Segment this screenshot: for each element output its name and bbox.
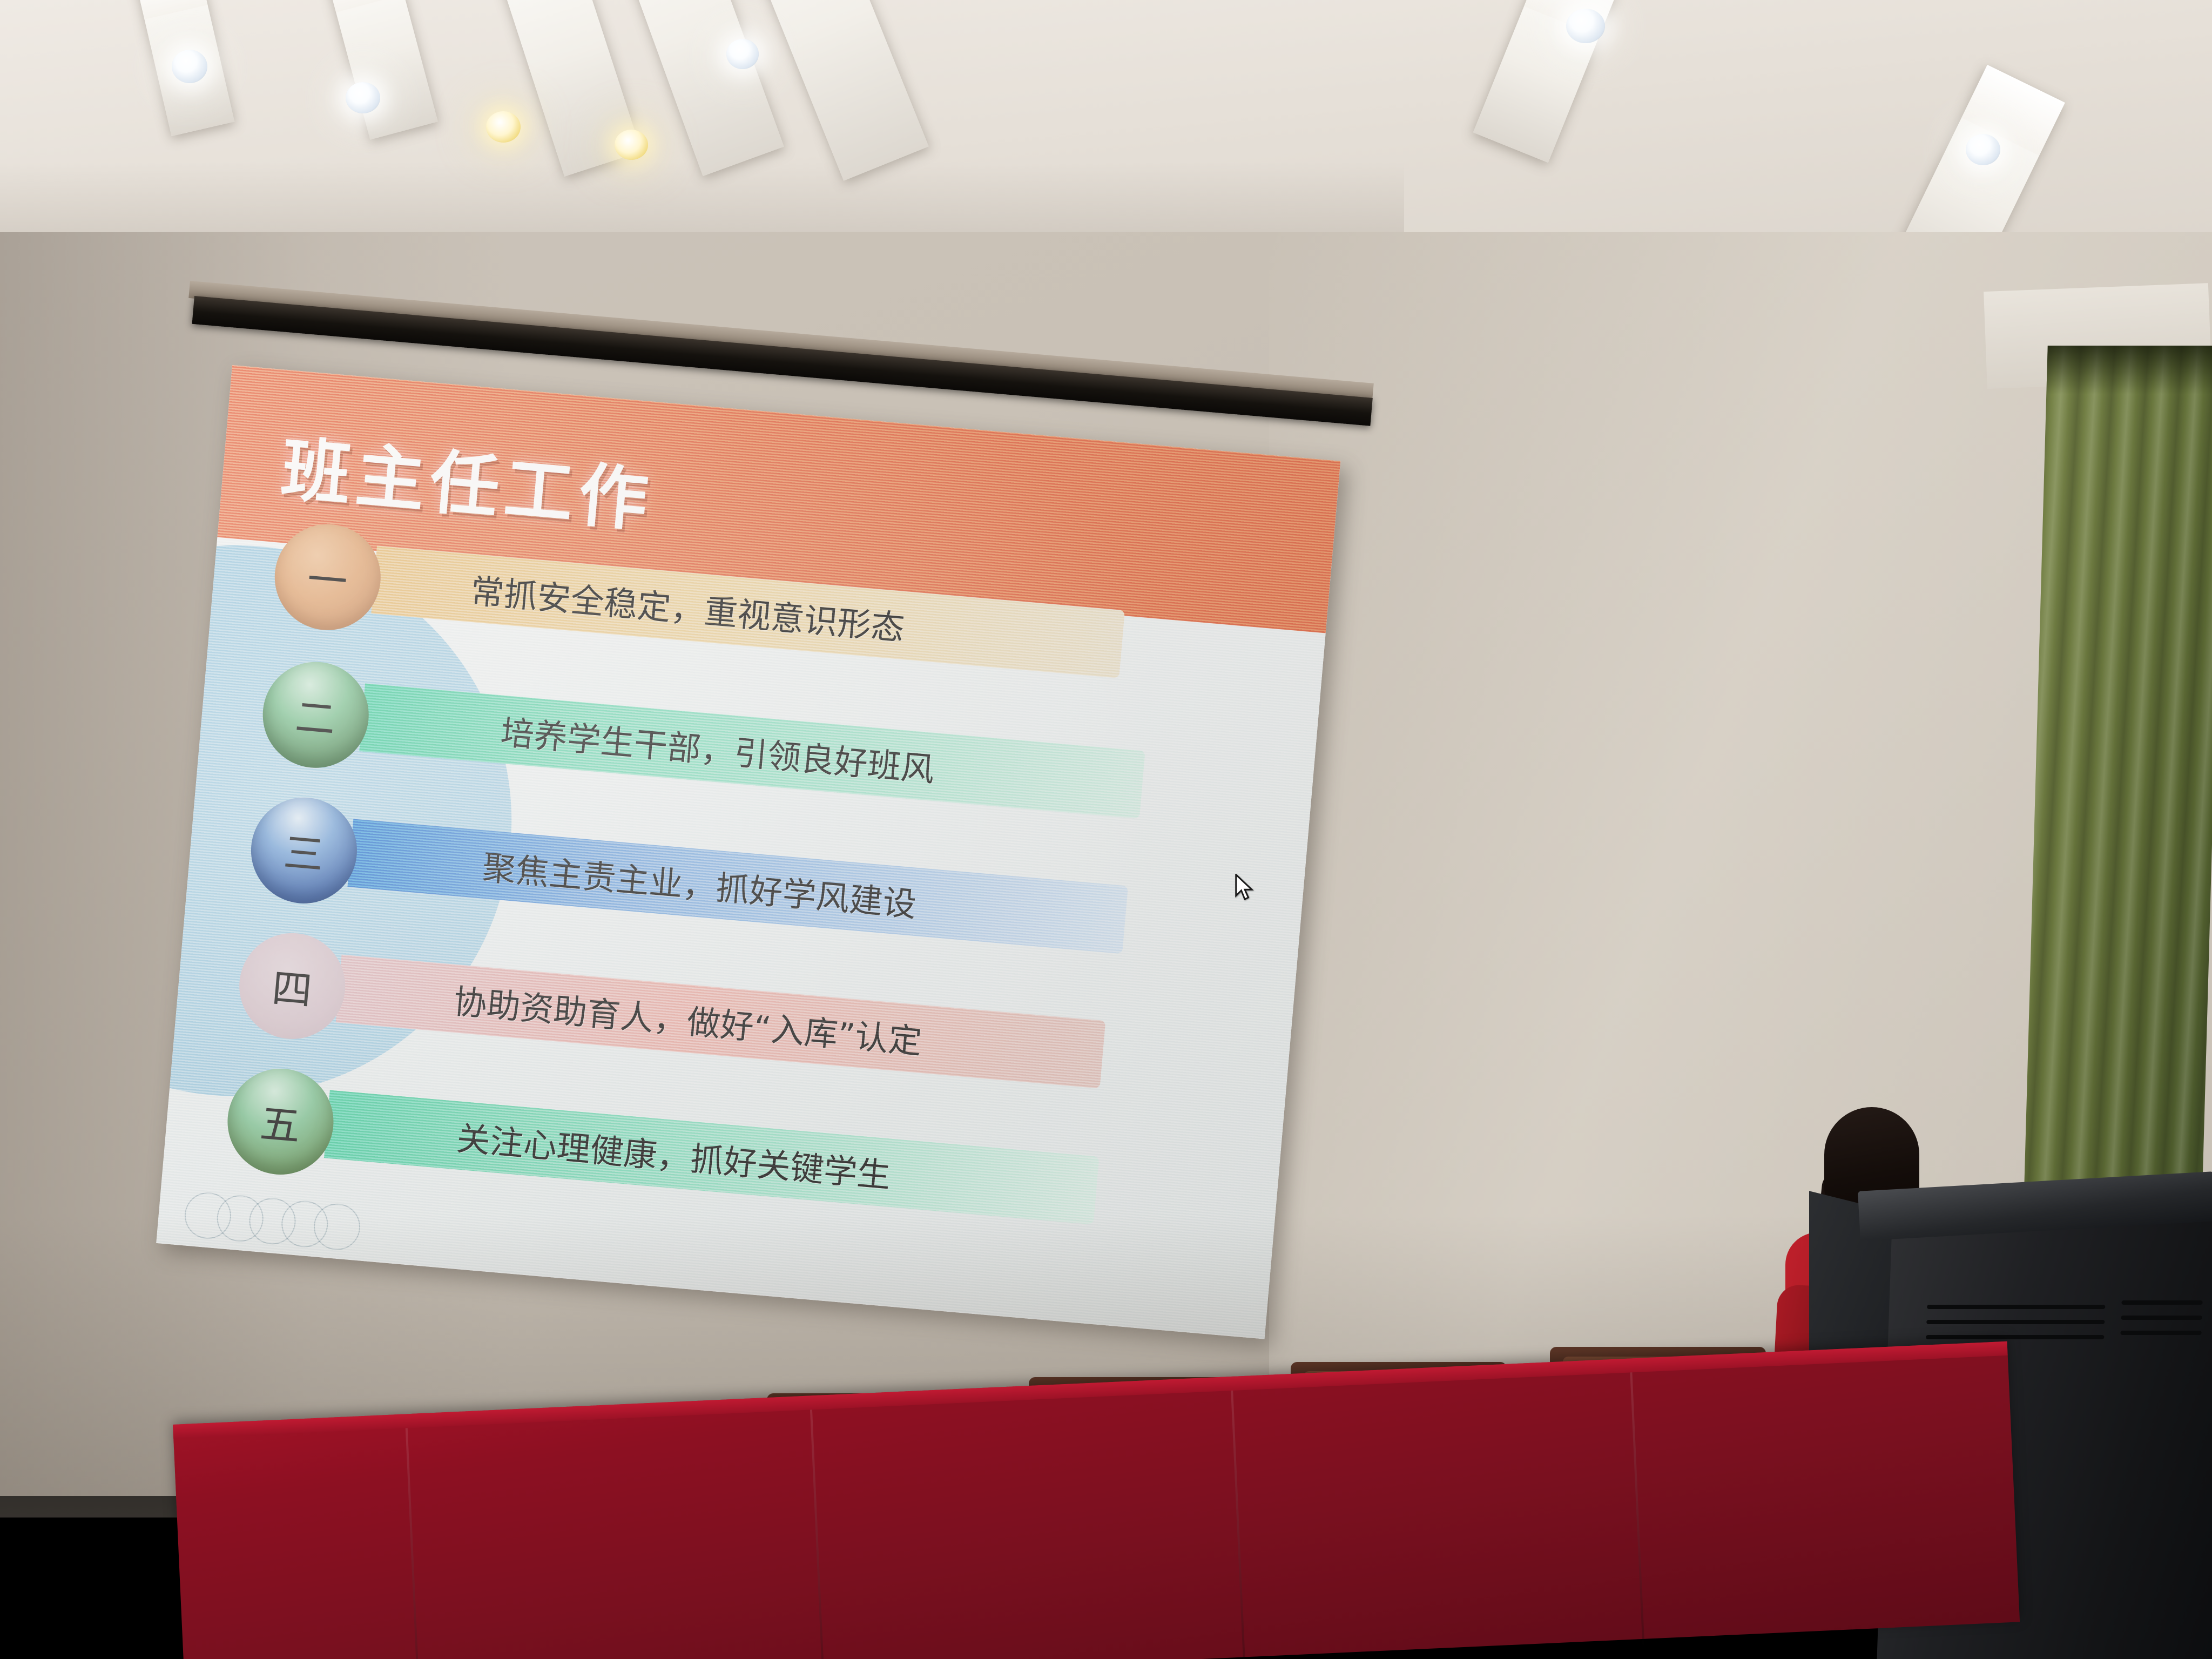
podium-vent-slot [1926, 1320, 2105, 1324]
slide-item-numeral-badge: 二 [259, 658, 373, 772]
slide-item-list: 常抓安全稳定，重视意识形态 一 培养学生干部，引领良好班风 二 聚焦主责主业，抓… [159, 527, 1326, 1300]
podium-vent-slot [2121, 1300, 2202, 1305]
slide-canvas: 班主任工作 常抓安全稳定，重视意识形态 一 培养学生干部，引领良好班风 二 [156, 365, 1340, 1339]
downlight-3-icon [486, 111, 521, 143]
curtain-top-shadow [2046, 346, 2212, 394]
projection-screen[interactable]: 班主任工作 常抓安全稳定，重视意识形态 一 培养学生干部，引领良好班风 二 [156, 365, 1340, 1339]
trough-lip [135, 0, 207, 19]
window-curtain [2024, 346, 2212, 1188]
slide-item-numeral-badge: 五 [223, 1064, 338, 1179]
downlight-4-icon [615, 130, 648, 160]
podium-vent-slot [2120, 1331, 2201, 1335]
table-cloth-fold [1630, 1372, 1645, 1653]
trough-lip [324, 0, 404, 12]
podium-vent-slot [2121, 1316, 2202, 1320]
mouse-pointer-icon [1234, 874, 1256, 902]
podium-vent-slot [1926, 1335, 2104, 1339]
table-cloth-fold [810, 1410, 825, 1659]
table-cloth-fold [1231, 1391, 1246, 1659]
downlight-1-icon [172, 50, 207, 83]
slide-item-numeral-badge: 三 [247, 793, 361, 908]
downlight-2-icon [346, 82, 380, 113]
slide-item-numeral-badge: 四 [235, 929, 349, 1043]
table-cloth-fold [406, 1428, 421, 1659]
downlight-5-icon [726, 39, 759, 69]
downlight-7-icon [1966, 134, 2000, 165]
downlight-6-icon [1566, 9, 1605, 43]
presentation-room-scene: 班主任工作 常抓安全稳定，重视意识形态 一 培养学生干部，引领良好班风 二 [0, 0, 2212, 1659]
podium-vent-slot [1927, 1305, 2105, 1309]
